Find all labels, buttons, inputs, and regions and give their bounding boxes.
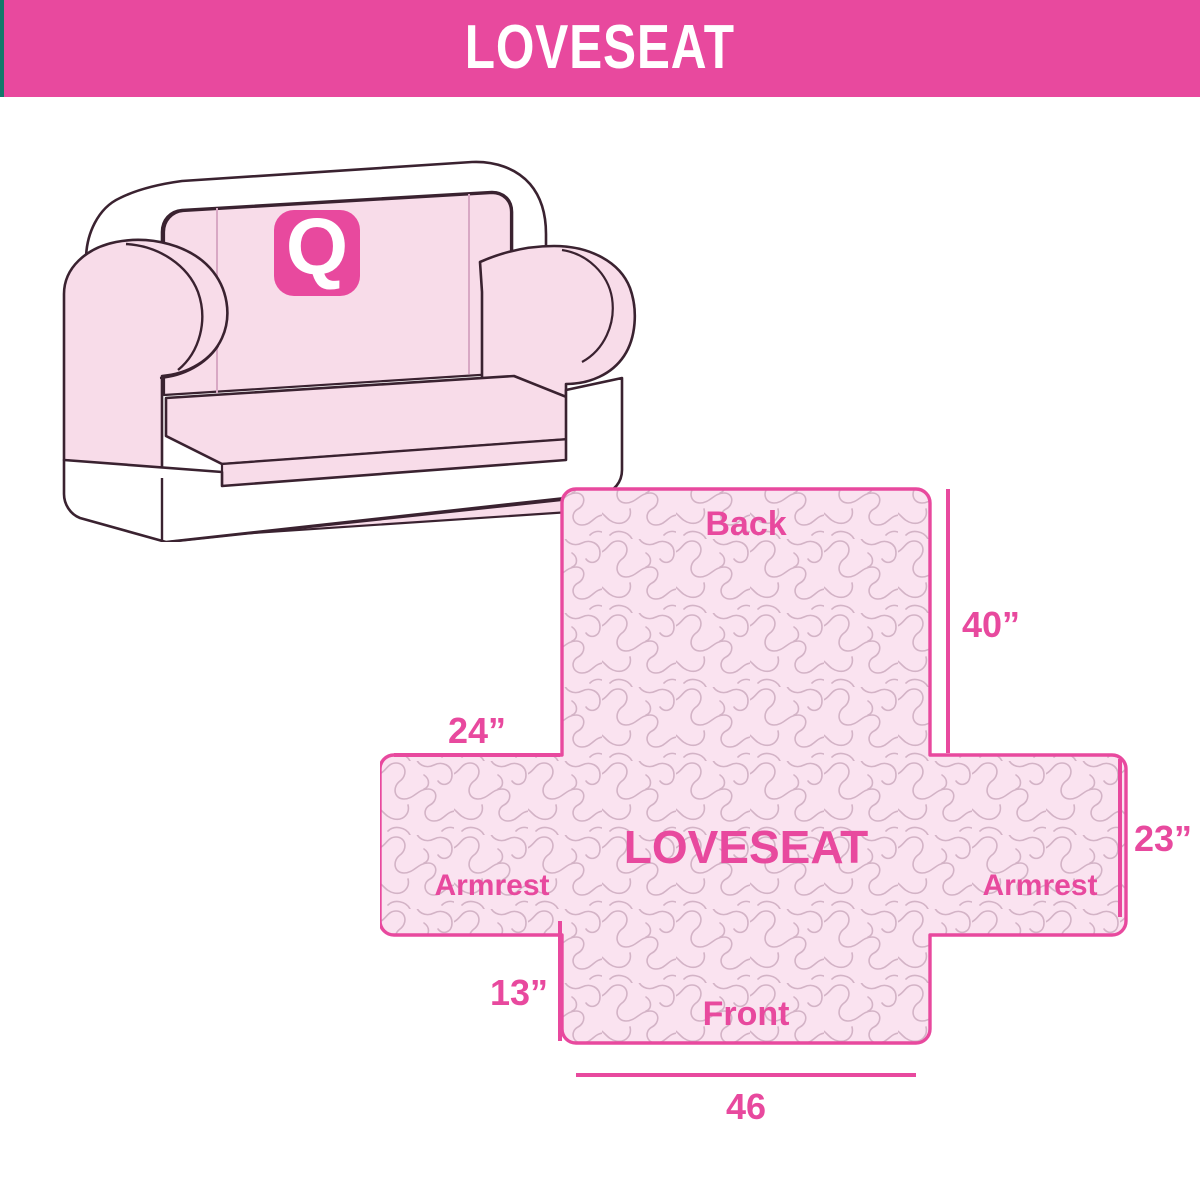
label-armrest-left: Armrest: [434, 869, 549, 902]
dimension-back-height: 40”: [948, 489, 1020, 753]
label-center-loveseat: LOVESEAT: [624, 821, 869, 873]
logo-letter: Q: [286, 202, 348, 291]
dimension-front-drop: 13”: [490, 921, 560, 1041]
page-title: LOVESEAT: [465, 17, 735, 79]
header-accent-strip: [0, 0, 4, 97]
cover-flat-lay-diagram: Back LOVESEAT Armrest Armrest Front 40” …: [380, 465, 1200, 1145]
logo-badge: Q: [274, 202, 360, 296]
dimension-label-24: 24”: [448, 710, 506, 751]
header-banner: LOVESEAT: [0, 0, 1200, 97]
dimension-armrest-height: 23”: [1120, 759, 1192, 917]
label-armrest-right: Armrest: [982, 869, 1097, 902]
dimension-label-23: 23”: [1134, 818, 1192, 859]
label-front: Front: [703, 995, 790, 1033]
dimension-front-width: 46: [576, 1075, 916, 1127]
dimension-label-13: 13”: [490, 972, 548, 1013]
label-back: Back: [705, 505, 786, 543]
dimension-label-46: 46: [726, 1086, 766, 1127]
cover-shape: [380, 465, 1200, 1145]
loveseat-size-chart-page: LOVESEAT Q: [0, 0, 1200, 1200]
dimension-label-40: 40”: [962, 604, 1020, 645]
dimension-armrest-width: 24”: [394, 710, 560, 755]
